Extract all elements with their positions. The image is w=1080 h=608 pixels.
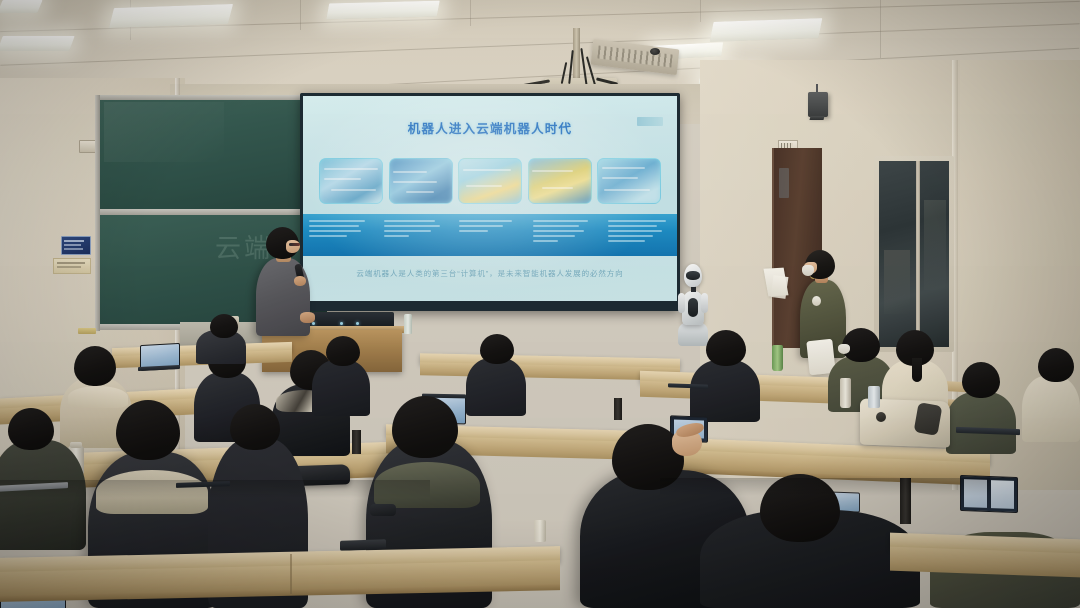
slide-thumbnail: [597, 158, 661, 204]
student-head: [116, 400, 180, 460]
equipment-led: [312, 322, 315, 325]
face-mask: [802, 265, 814, 276]
ceiling-grid-line: [700, 0, 701, 22]
slide-thumbnail: [319, 158, 383, 204]
robot-face-visor: [686, 271, 700, 280]
band-column-3: [453, 214, 528, 256]
ceiling-light-panel: [0, 36, 75, 51]
desk-seam: [290, 554, 292, 594]
student-head: [1038, 348, 1074, 382]
student-head: [230, 404, 280, 450]
computer-mouse[interactable]: [370, 504, 396, 516]
wall-notice-line: [64, 244, 81, 246]
robot-arm-right: [701, 293, 708, 313]
thermos: [840, 378, 851, 408]
wall-speaker: [808, 92, 828, 117]
desk-shadow: [660, 478, 990, 496]
robot-base: [678, 322, 708, 346]
chalkboard-frame-left: [95, 95, 100, 331]
desk-shadow: [0, 480, 430, 498]
student-head: [480, 334, 514, 364]
student-head: [962, 362, 1000, 398]
band-column-5: [602, 214, 677, 256]
slide-text-band: [303, 214, 677, 256]
thermos-cap: [70, 442, 82, 448]
presenter-hand: [300, 312, 315, 323]
held-papers: [771, 275, 789, 299]
ceiling-grid-line: [300, 0, 301, 30]
chalk-tray: [78, 328, 96, 334]
slide-thumbnail: [528, 158, 592, 204]
window-reflection: [924, 200, 946, 290]
lecture-hall-photo: 云端 机器人进入云端机器人时代: [0, 0, 1080, 608]
ceiling-light-panel: [0, 0, 43, 13]
student-body: [466, 358, 526, 416]
chalkboard-writing: 云端: [215, 228, 273, 265]
student-head: [392, 396, 458, 458]
projected-slide: 机器人进入云端机器人时代: [303, 96, 677, 301]
student-body: [312, 360, 370, 416]
presenter-hand: [294, 276, 306, 286]
backpack-logo: [876, 412, 886, 422]
beverage-bottle: [772, 345, 783, 371]
equipment-led: [356, 322, 359, 325]
student-body: [690, 360, 760, 422]
band-column-2: [378, 214, 453, 256]
student-body: [1022, 376, 1080, 442]
window-mullion: [916, 161, 920, 347]
slide-thumbnail-row: [319, 158, 661, 204]
presenter-glasses: [289, 243, 300, 246]
face-mask: [838, 344, 850, 354]
equipment-led: [340, 322, 343, 325]
water-bottle: [534, 520, 546, 542]
wall-placard-line: [57, 262, 85, 264]
slide-thumbnail: [389, 158, 453, 204]
student-head: [326, 336, 360, 366]
desk-leg: [614, 398, 622, 420]
robot-arm-left: [678, 293, 685, 313]
desk-leg: [352, 430, 361, 454]
ceiling-grid-line: [880, 0, 881, 58]
student-hood: [68, 386, 128, 408]
water-bottle: [868, 386, 880, 408]
window-reflection: [884, 250, 910, 314]
chalkboard-sheen: [104, 102, 224, 162]
slide-title: 机器人进入云端机器人时代: [303, 118, 677, 137]
band-column-1: [303, 214, 378, 256]
slide-logo: [637, 117, 663, 126]
ponytail: [912, 358, 922, 382]
ceiling-grid-line: [470, 0, 471, 26]
water-bottle: [404, 314, 412, 334]
ceiling-dome-camera: [650, 48, 660, 55]
assistant-badge: [812, 296, 821, 306]
wall-notice-line: [64, 240, 84, 242]
student-body: [946, 392, 1016, 454]
student-head: [210, 314, 238, 338]
student-head: [706, 330, 746, 366]
band-column-4: [527, 214, 602, 256]
ceiling-light-panel: [326, 1, 440, 20]
slide-caption: 云端机器人是人类的第三台“计算机”，是未来智能机器人发展的必然方向: [303, 268, 677, 279]
robot-chest-panel: [688, 298, 698, 317]
speaker-base: [810, 116, 825, 120]
slide-thumbnail: [458, 158, 522, 204]
door-viewport: [779, 168, 789, 198]
projector-mount-pole: [573, 28, 580, 80]
ceiling-light-panel: [710, 18, 823, 42]
wall-notice-line: [64, 248, 83, 250]
wall-placard-line: [57, 266, 81, 268]
student-head: [8, 408, 54, 450]
student-head: [74, 346, 116, 386]
